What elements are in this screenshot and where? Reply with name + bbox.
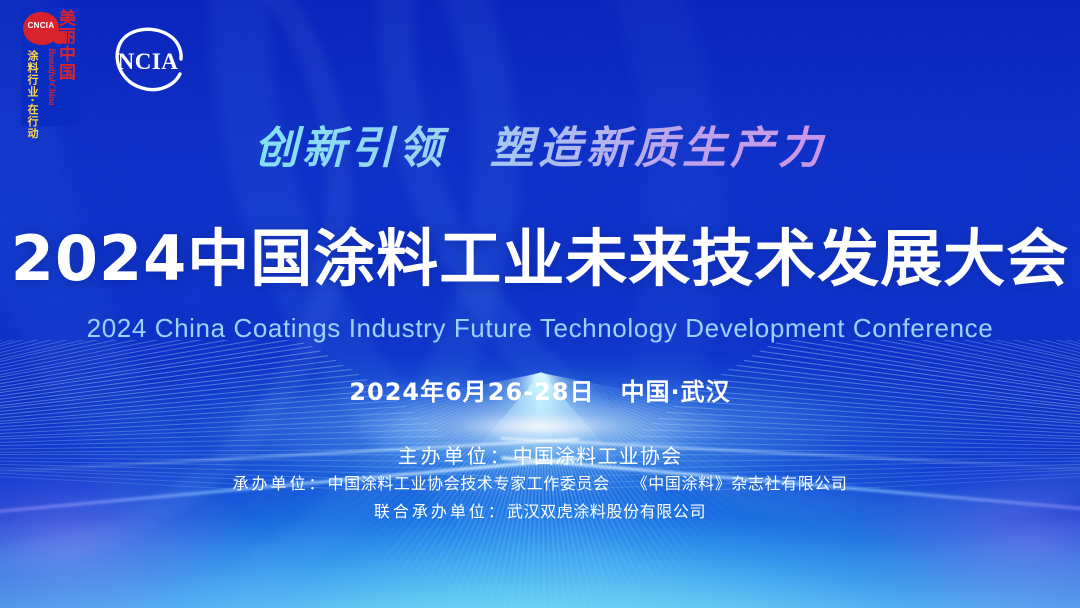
- slogan-part-2: 塑造新质生产力: [490, 123, 826, 174]
- logo-ncia: NCIA: [108, 24, 186, 94]
- event-slogan: 创新引领塑造新质生产力: [0, 112, 1080, 176]
- logo-beautiful-china: CNCIA 美丽中国 Beautiful China 涂料行业·在行动: [21, 8, 79, 126]
- organizer-label: 联合承办单位：: [374, 502, 507, 521]
- organizer-row: 主办单位：中国涂料工业协会: [0, 442, 1080, 470]
- organizer-extra: 《中国涂料》杂志社有限公司: [632, 474, 848, 493]
- organizer-label: 主办单位：: [398, 444, 513, 468]
- conference-banner: CNCIA 美丽中国 Beautiful China 涂料行业·在行动 NCIA…: [0, 0, 1080, 608]
- organizer-label: 承办单位：: [232, 474, 327, 493]
- ncia-wordmark: NCIA: [118, 49, 179, 74]
- event-date: 2024年6月26-28日: [349, 378, 594, 406]
- ncia-c-mark-icon: NCIA: [108, 24, 186, 94]
- event-location: 中国·武汉: [621, 378, 731, 406]
- event-datetime-location: 2024年6月26-28日中国·武汉: [0, 372, 1080, 407]
- organizer-value: 中国涂料工业协会技术专家工作委员会: [328, 474, 610, 493]
- slogan-part-1: 创新引领: [254, 123, 446, 174]
- logo-cncia-badge-text: CNCIA: [24, 21, 58, 30]
- logo-chinese-name: 美丽中国: [57, 10, 78, 82]
- bottom-cyan-wash: [0, 518, 1080, 608]
- organizer-value: 中国涂料工业协会: [513, 444, 683, 468]
- organizer-block: 主办单位：中国涂料工业协会 承办单位：中国涂料工业协会技术专家工作委员会《中国涂…: [0, 442, 1080, 526]
- english-subtitle: 2024 China Coatings Industry Future Tech…: [0, 313, 1080, 344]
- page-title: 2024中国涂料工业未来技术发展大会: [0, 222, 1080, 296]
- logo-english-name: Beautiful China: [47, 48, 57, 105]
- organizer-value: 武汉双虎涂料股份有限公司: [507, 502, 706, 521]
- organizer-row: 联合承办单位：武汉双虎涂料股份有限公司: [0, 498, 1080, 526]
- organizer-row: 承办单位：中国涂料工业协会技术专家工作委员会《中国涂料》杂志社有限公司: [0, 470, 1080, 498]
